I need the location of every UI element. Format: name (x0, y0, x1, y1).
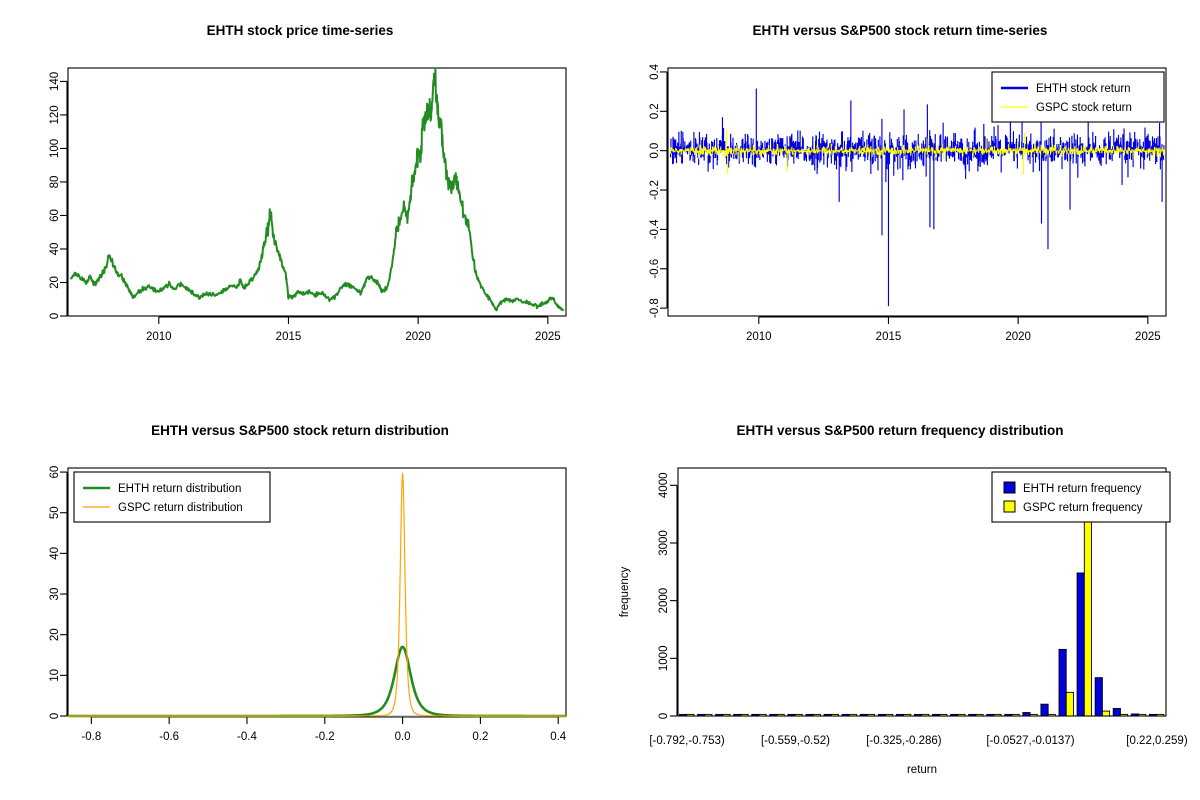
return-ts-legend-label: GSPC stock return (1036, 102, 1132, 114)
panel-return-timeseries: EHTH versus S&P500 stock return time-ser… (600, 0, 1200, 400)
x-axis-tick-label: 2010 (146, 331, 172, 343)
y-axis-tick-label: 30 (49, 588, 61, 601)
y-axis-tick-label: 2000 (658, 588, 670, 614)
x-axis-tick-label: 2025 (535, 331, 561, 343)
x-axis-tick-label: 0.4 (550, 731, 567, 743)
x-axis-bin-label: [-0.325,-0.286) (866, 735, 942, 747)
y-axis-tick-label: 0 (658, 713, 670, 719)
x-axis-tick-label: 2015 (276, 331, 302, 343)
y-axis-tick-label: 20 (49, 276, 61, 289)
y-axis-tick-label: -0.6 (649, 259, 661, 279)
y-axis-tick-label: 0 (49, 313, 61, 319)
x-axis-label-return: return (907, 764, 937, 776)
x-axis-tick-label: 0.2 (472, 731, 488, 743)
panel-title-frequency: EHTH versus S&P500 return frequency dist… (736, 423, 1063, 438)
panel-title-density: EHTH versus S&P500 stock return distribu… (151, 423, 449, 438)
y-axis-tick-label: 60 (49, 466, 61, 479)
y-axis-tick-label: 0 (49, 713, 61, 719)
plot-box (68, 68, 566, 316)
bar-gspc (1102, 711, 1109, 716)
y-axis-tick-label: 40 (49, 243, 61, 256)
density-curve-ehth (68, 647, 566, 716)
y-axis-tick-label: 10 (49, 669, 61, 682)
frequency-legend-label: EHTH return frequency (1023, 483, 1141, 495)
x-axis-tick-label: 0.0 (395, 731, 411, 743)
x-axis-tick-label: 2015 (876, 331, 902, 343)
x-axis-bin-label: [-0.0527,-0.0137) (986, 735, 1074, 747)
x-axis-tick-label: -0.6 (159, 731, 179, 743)
y-axis-tick-label: 60 (49, 209, 61, 222)
y-axis-tick-label: 80 (49, 176, 61, 189)
panel-title-return-ts: EHTH versus S&P500 stock return time-ser… (753, 23, 1048, 38)
y-axis-tick-label: -0.2 (649, 180, 661, 200)
frequency-legend-label: GSPC return frequency (1023, 502, 1143, 514)
price-timeseries-svg: EHTH stock price time-series 02040608010… (0, 0, 600, 400)
frequency-legend-swatch (1004, 501, 1015, 512)
bar-ehth (1059, 649, 1066, 716)
y-axis-tick-label: -0.4 (649, 219, 661, 239)
bar-gspc (1066, 692, 1073, 716)
price-line-ehth (71, 69, 564, 311)
y-axis-tick-label: 20 (49, 628, 61, 641)
frequency-legend-swatch (1004, 482, 1015, 493)
y-axis-tick-label: 100 (49, 139, 61, 158)
return-timeseries-svg: EHTH versus S&P500 stock return time-ser… (600, 0, 1200, 400)
y-axis-tick-label: 4000 (658, 473, 670, 499)
y-axis-tick-label: 0.0 (649, 143, 661, 159)
panel-return-density: EHTH versus S&P500 stock return distribu… (0, 400, 600, 800)
x-axis-tick-label: -0.4 (237, 731, 257, 743)
figure-canvas: EHTH stock price time-series 02040608010… (0, 0, 1200, 800)
x-axis-tick-label: -0.8 (81, 731, 101, 743)
y-axis-tick-label: -0.8 (649, 298, 661, 318)
return-frequency-svg: EHTH versus S&P500 return frequency dist… (600, 400, 1200, 800)
panel-title-price: EHTH stock price time-series (207, 23, 394, 38)
bar-ehth (1113, 709, 1120, 717)
y-axis-tick-label: 120 (49, 105, 61, 124)
density-legend-label: EHTH return distribution (118, 483, 241, 495)
x-axis-tick-label: 2025 (1135, 331, 1161, 343)
x-axis-tick-label: 2010 (746, 331, 772, 343)
frequency-legend-box (992, 472, 1170, 522)
return-ts-legend-label: EHTH stock return (1036, 83, 1131, 95)
density-legend-box (74, 472, 270, 522)
y-axis-tick-label: 40 (49, 547, 61, 560)
bar-ehth (1095, 678, 1102, 716)
x-axis-bin-label: [-0.559,-0.52) (761, 735, 830, 747)
x-axis-bin-label: [-0.792,-0.753) (649, 735, 725, 747)
density-legend-label: GSPC return distribution (118, 502, 243, 514)
y-axis-tick-label: 0.2 (649, 103, 661, 119)
x-axis-tick-label: -0.2 (315, 731, 335, 743)
y-axis-label-frequency: frequency (619, 567, 631, 618)
y-axis-tick-label: 140 (49, 72, 61, 91)
x-axis-tick-label: 2020 (405, 331, 431, 343)
y-axis-tick-label: 50 (49, 506, 61, 519)
panel-price-timeseries: EHTH stock price time-series 02040608010… (0, 0, 600, 400)
bar-ehth (1077, 573, 1084, 716)
y-axis-tick-label: 1000 (658, 646, 670, 672)
return-ts-legend-box (992, 72, 1164, 122)
x-axis-bin-label: [0.22,0.259) (1126, 735, 1188, 747)
y-axis-tick-label: 0.4 (649, 63, 661, 80)
panel-return-frequency: EHTH versus S&P500 return frequency dist… (600, 400, 1200, 800)
y-axis-tick-label: 3000 (658, 530, 670, 556)
x-axis-tick-label: 2020 (1005, 331, 1031, 343)
bar-ehth (1041, 704, 1048, 716)
return-density-svg: EHTH versus S&P500 stock return distribu… (0, 400, 600, 800)
